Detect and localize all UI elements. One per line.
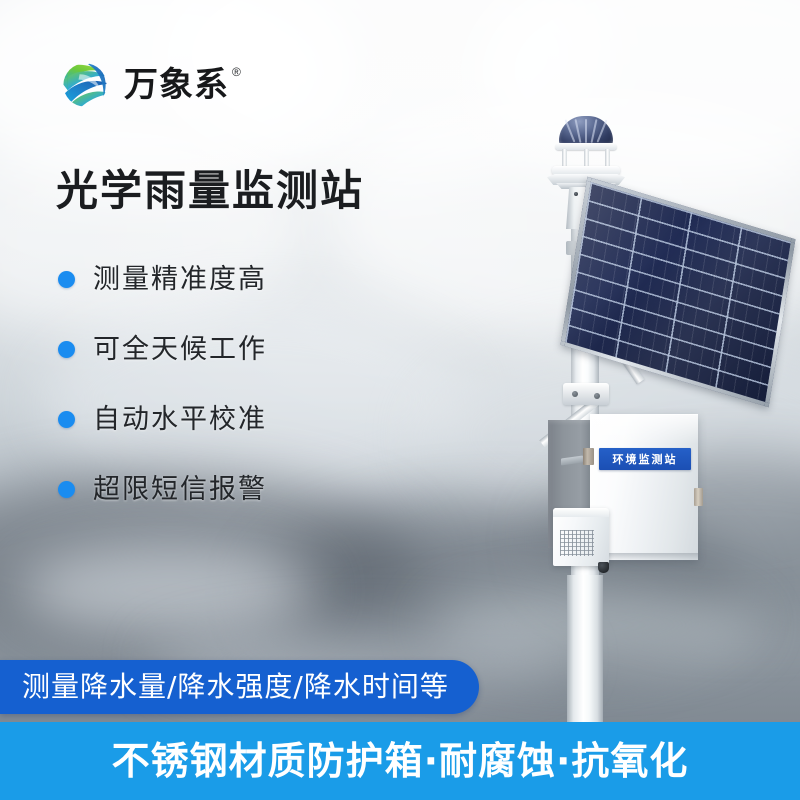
sensor-screw [574,192,578,196]
bullet-dot-icon [58,271,75,288]
feature-label: 超限短信报警 [93,476,267,503]
capability-banner-label: 测量降水量/降水强度/降水时间等 [22,673,449,701]
enclosure-hinge [583,448,594,465]
bullet-dot-icon [58,411,75,428]
bracket-bolt [594,393,600,399]
feature-label: 自动水平校准 [93,406,267,433]
solar-panel-glare [565,182,791,402]
feature-label: 可全天候工作 [93,336,267,363]
brand-wordmark: 万象系 ® [124,68,241,102]
cable-gland-cap [598,562,609,573]
brand-name: 万象系 [124,68,229,102]
enclosure-latch [694,488,703,506]
capability-banner: 测量降水量/降水强度/降水时间等 [0,660,479,714]
solar-panel [566,222,778,400]
sensor-mid-plate [552,166,620,175]
registered-trademark-icon: ® [232,66,241,78]
bullet-dot-icon [58,341,75,358]
brand-logo: 万象系 ® [58,58,241,112]
bracket-bolt [572,391,578,397]
panel-mast-clamp [563,383,609,405]
vented-box-top [553,508,609,517]
globe-swirl-logo-icon [58,58,112,112]
list-item: 自动水平校准 [58,398,388,440]
enclosure-nameplate: 环境监测站 [599,448,691,470]
solar-panel-face [561,177,796,407]
list-item: 超限短信报警 [58,468,388,510]
enclosure-door-highlight [590,414,698,444]
enclosure-nameplate-label: 环境监测站 [613,454,678,465]
product-banner: 环境监测站 [0,0,800,800]
feature-label: 测量精准度高 [93,266,267,293]
sensor-dome-icon [559,116,613,146]
bottom-feature-bar: 不锈钢材质防护箱·耐腐蚀·抗氧化 [0,722,800,800]
feature-list: 测量精准度高 可全天候工作 自动水平校准 超限短信报警 [58,258,388,538]
page-title: 光学雨量监测站 [56,168,364,214]
bottom-feature-bar-label: 不锈钢材质防护箱·耐腐蚀·抗氧化 [112,742,689,780]
list-item: 可全天候工作 [58,328,388,370]
list-item: 测量精准度高 [58,258,388,300]
vent-grille-icon [560,530,594,556]
bullet-dot-icon [58,481,75,498]
mast-lower-section [567,575,603,730]
